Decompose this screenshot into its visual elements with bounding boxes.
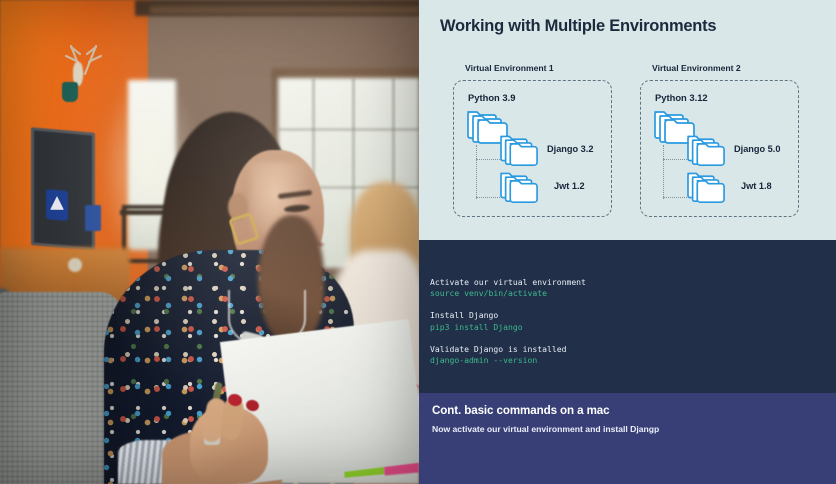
code-spacer	[430, 299, 586, 310]
tree-vertical-line	[663, 145, 664, 199]
code-command: pip3 install Django	[430, 322, 586, 333]
env-1-package-2-folder-stack	[499, 167, 540, 204]
caption-bar: Cont. basic commands on a mac Now activa…	[419, 393, 836, 484]
slide-content: Working with Multiple Environments Virtu…	[419, 0, 836, 484]
env-2-caption: Virtual Environment 2	[652, 63, 799, 73]
env-1-caption: Virtual Environment 1	[465, 63, 612, 73]
folder-stack-icon	[499, 130, 540, 167]
tree-branch-line	[663, 197, 687, 198]
tree-vertical-line	[476, 145, 477, 199]
env-1-package-1-folder-stack	[499, 130, 540, 167]
code-lines: Activate our virtual environment source …	[430, 277, 586, 366]
env-2-package-1-folder-stack	[686, 130, 727, 167]
presenter-photo	[0, 0, 419, 484]
page-title: Working with Multiple Environments	[440, 17, 716, 36]
folder-stack-icon	[499, 167, 540, 204]
code-comment: Activate our virtual environment	[430, 277, 586, 288]
env-1-package-1-label: Django 3.2	[547, 144, 593, 154]
env-2-package-2-folder-stack	[686, 167, 727, 204]
folder-stack-icon	[686, 130, 727, 167]
slide-screenshot: Working with Multiple Environments Virtu…	[0, 0, 836, 484]
tree-branch-line	[663, 159, 687, 160]
code-spacer	[430, 333, 586, 344]
caption-subtitle: Now activate our virtual environment and…	[432, 424, 659, 434]
environments-diagram: Working with Multiple Environments Virtu…	[419, 0, 836, 240]
virtual-environment-1-group: Virtual Environment 1 Python 3.9	[453, 63, 612, 217]
photo-vignette	[0, 0, 419, 484]
env-2-package-2-label: Jwt 1.8	[741, 181, 772, 191]
code-comment: Install Django	[430, 310, 586, 321]
env-2-tree-connector	[663, 145, 687, 199]
env-1-box: Python 3.9	[453, 80, 612, 217]
code-comment: Validate Django is installed	[430, 344, 586, 355]
env-2-python-label: Python 3.12	[655, 92, 708, 103]
env-2-box: Python 3.12	[640, 80, 799, 217]
code-command: django-admin --version	[430, 355, 586, 366]
env-1-tree-connector	[476, 145, 500, 199]
env-1-python-label: Python 3.9	[468, 92, 515, 103]
env-1-package-2-label: Jwt 1.2	[554, 181, 585, 191]
caption-title: Cont. basic commands on a mac	[432, 404, 610, 417]
code-block: Activate our virtual environment source …	[419, 240, 836, 393]
code-command: source venv/bin/activate	[430, 288, 586, 299]
tree-branch-line	[476, 197, 500, 198]
folder-stack-icon	[686, 167, 727, 204]
virtual-environment-2-group: Virtual Environment 2 Python 3.12	[640, 63, 799, 217]
tree-branch-line	[476, 159, 500, 160]
env-2-package-1-label: Django 5.0	[734, 144, 780, 154]
